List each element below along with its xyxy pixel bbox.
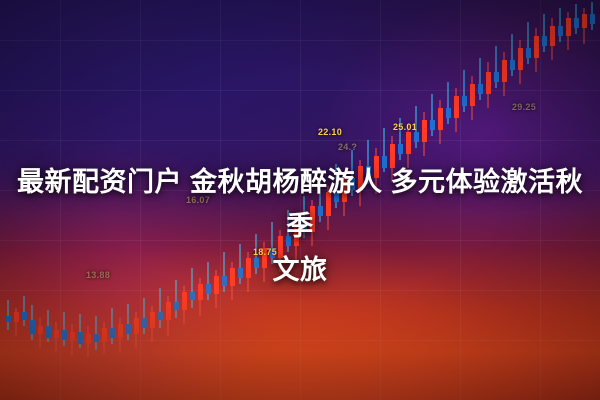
image-canvas: 22.1025.0129.2524.?18.7516.0713.88 最新配资门… (0, 0, 600, 400)
headline-line-1: 最新配资门户 金秋胡杨醉游人 多元体验激活秋季 (8, 160, 592, 248)
headline-line-2: 文旅 (8, 248, 592, 292)
headline-overlay: 最新配资门户 金秋胡杨醉游人 多元体验激活秋季 文旅 (0, 160, 600, 292)
